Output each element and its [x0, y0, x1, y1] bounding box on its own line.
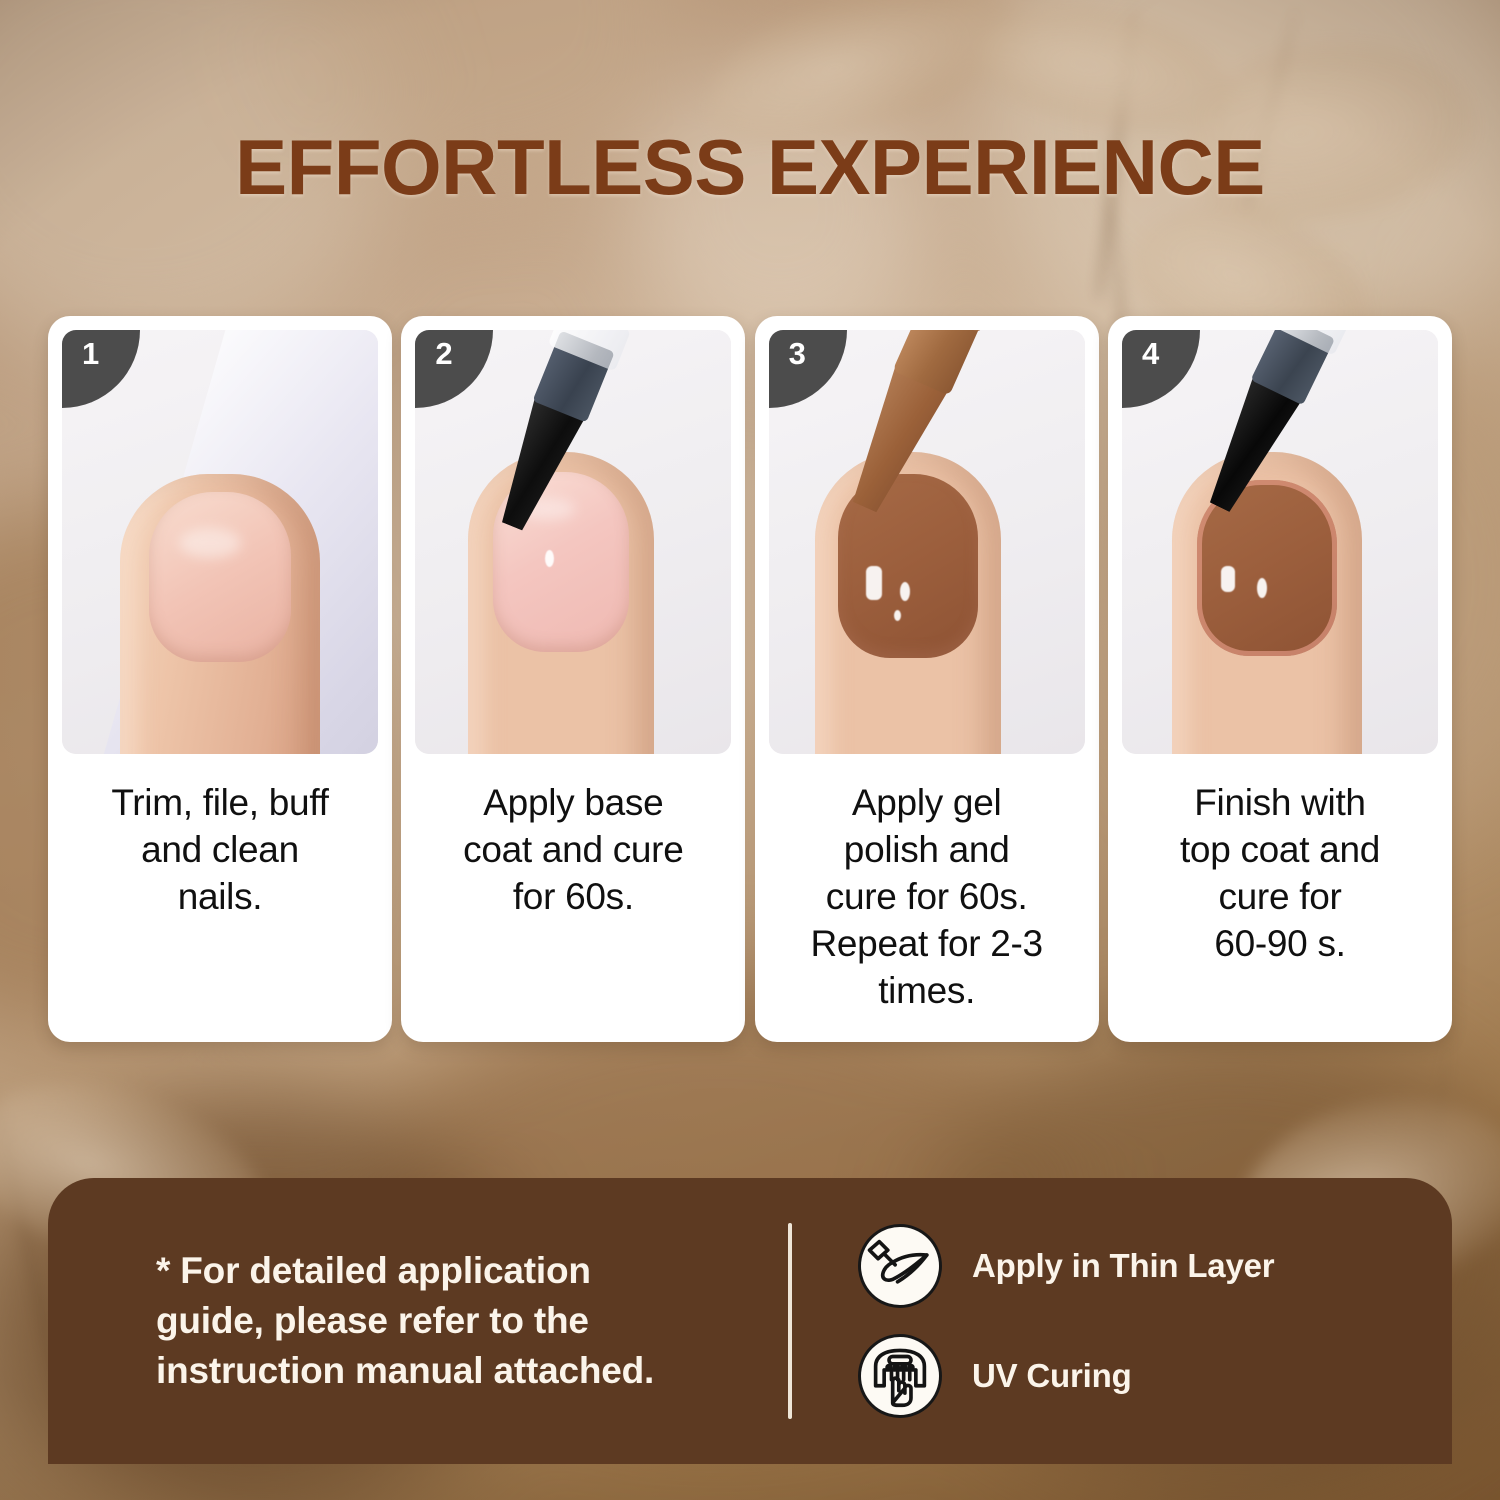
- step-photo-3: 3: [769, 330, 1085, 754]
- feature-label: Apply in Thin Layer: [972, 1247, 1274, 1285]
- uv-lamp-icon: [858, 1334, 942, 1418]
- scene-base-coat: [415, 330, 731, 754]
- step-photo-2: 2: [415, 330, 731, 754]
- finger-shape: [1172, 452, 1362, 754]
- step-caption-1: Trim, file, buff and clean nails.: [62, 754, 378, 1042]
- feature-label: UV Curing: [972, 1357, 1132, 1395]
- scene-file-nail: [62, 330, 378, 754]
- steps-row: 1 Trim, file, buff and clean nails.: [48, 316, 1452, 1042]
- step-caption-4: Finish with top coat and cure for 60-90 …: [1122, 754, 1438, 1042]
- footer-banner: * For detailed application guide, please…: [48, 1178, 1452, 1464]
- application-guide-note: * For detailed application guide, please…: [48, 1246, 788, 1396]
- step-caption-3: Apply gel polish and cure for 60s. Repea…: [769, 754, 1085, 1042]
- vertical-divider: [788, 1223, 792, 1419]
- feature-uv-curing: UV Curing: [858, 1334, 1274, 1418]
- finger-shape: [468, 452, 654, 754]
- nail-shape: [149, 492, 291, 662]
- step-caption-2: Apply base coat and cure for 60s.: [415, 754, 731, 1042]
- step-card-2: 2 Apply base coat and cure for 60s.: [401, 316, 745, 1042]
- step-photo-4: 4: [1122, 330, 1438, 754]
- step-card-4: 4 Finish with top coat and cure for 60-9…: [1108, 316, 1452, 1042]
- feature-list: Apply in Thin Layer UV Cu: [858, 1224, 1274, 1418]
- page-title: EFFORTLESS EXPERIENCE: [0, 128, 1500, 206]
- step-card-1: 1 Trim, file, buff and clean nails.: [48, 316, 392, 1042]
- finger-shape: [815, 452, 1001, 754]
- finger-shape: [120, 474, 320, 754]
- scene-gel-polish: [769, 330, 1085, 754]
- brush-thin-layer-icon: [858, 1224, 942, 1308]
- scene-top-coat: [1122, 330, 1438, 754]
- step-photo-1: 1: [62, 330, 378, 754]
- step-card-3: 3 Apply gel polish and cure for 60s. Rep…: [755, 316, 1099, 1042]
- feature-apply-thin-layer: Apply in Thin Layer: [858, 1224, 1274, 1308]
